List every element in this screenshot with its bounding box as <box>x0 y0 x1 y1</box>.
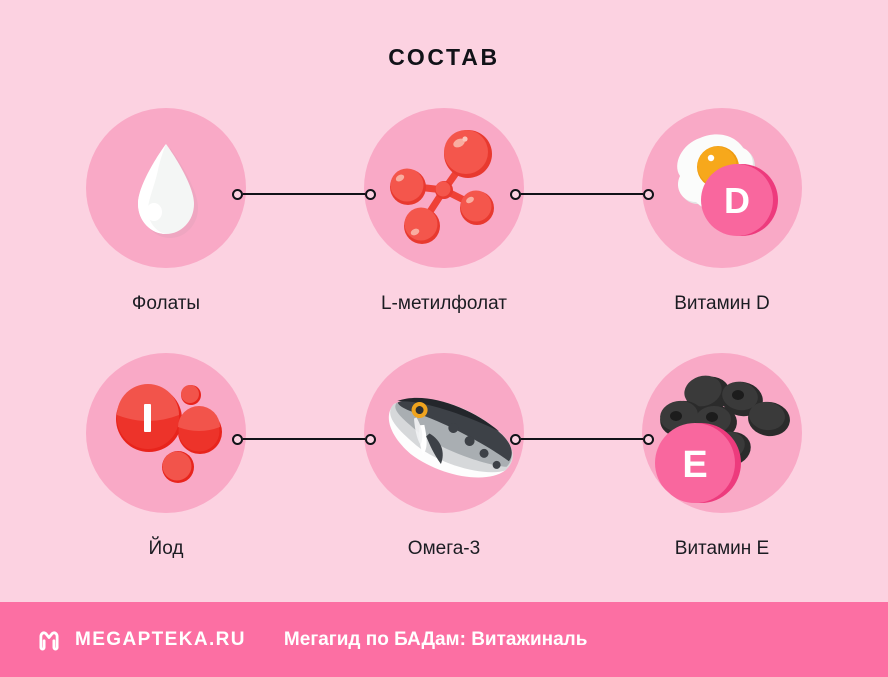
connector-endpoint-ring <box>643 434 654 445</box>
footer-bar: MEGAPTEKA.RU Мегагид по БАДам: Витажинал… <box>0 602 888 677</box>
ingredient-disc <box>364 353 524 513</box>
connector-line <box>521 438 643 440</box>
connector-endpoint-ring <box>365 189 376 200</box>
ingredient-vitamin-e[interactable]: E Витамин Е <box>602 353 842 560</box>
ingredient-iodine[interactable]: Йод <box>46 353 286 560</box>
water-drop-icon <box>86 108 246 268</box>
ingredient-label: Йод <box>46 538 286 560</box>
connector-endpoint-ring <box>365 434 376 445</box>
ingredients-grid: Фолаты <box>0 108 888 598</box>
page-title: СОСТАВ <box>0 44 888 71</box>
brand-name[interactable]: MEGAPTEKA.RU <box>75 629 246 651</box>
ingredient-disc: E <box>642 353 802 513</box>
infographic-page: СОСТАВ Фолаты <box>0 0 888 677</box>
ingredient-disc: D <box>642 108 802 268</box>
ingredient-methylfolate[interactable]: L-метилфолат <box>324 108 564 315</box>
ingredient-label: Витамин Е <box>602 538 842 560</box>
connector-line <box>243 193 365 195</box>
connector-iodine-to-omega3 <box>232 431 376 447</box>
ingredients-row-1: Фолаты <box>0 108 888 353</box>
connector-folates-to-methylfolate <box>232 186 376 202</box>
ingredient-label: L-метилфолат <box>324 293 564 315</box>
connector-methylfolate-to-vitamin-d <box>510 186 654 202</box>
ingredient-label: Омега-3 <box>324 538 564 560</box>
vitamin-badge-letter: D <box>724 180 750 221</box>
ingredient-disc <box>364 108 524 268</box>
ingredient-label: Витамин D <box>602 293 842 315</box>
ingredient-omega3[interactable]: Омега-3 <box>324 353 564 560</box>
ingredient-disc <box>86 108 246 268</box>
connector-endpoint-ring <box>232 434 243 445</box>
connector-endpoint-ring <box>232 189 243 200</box>
iodine-molecule-icon <box>86 353 246 513</box>
ingredient-disc <box>86 353 246 513</box>
ingredient-folates[interactable]: Фолаты <box>46 108 286 315</box>
molecule-icon <box>364 108 524 268</box>
ingredient-label: Фолаты <box>46 293 286 315</box>
megapteka-m-logo-icon[interactable] <box>36 627 62 653</box>
connector-line <box>521 193 643 195</box>
connector-endpoint-ring <box>510 434 521 445</box>
ingredient-vitamin-d[interactable]: D Витамин D <box>602 108 842 315</box>
connector-endpoint-ring <box>510 189 521 200</box>
ingredients-row-2: Йод <box>0 353 888 598</box>
connector-line <box>243 438 365 440</box>
fried-egg-vitamin-d-icon: D <box>642 108 802 268</box>
connector-endpoint-ring <box>643 189 654 200</box>
olives-vitamin-e-icon: E <box>642 353 802 513</box>
fish-icon <box>364 353 524 513</box>
footer-tagline: Мегагид по БАДам: Витажиналь <box>284 629 588 651</box>
connector-omega3-to-vitamin-e <box>510 431 654 447</box>
vitamin-badge-letter: E <box>682 444 707 486</box>
